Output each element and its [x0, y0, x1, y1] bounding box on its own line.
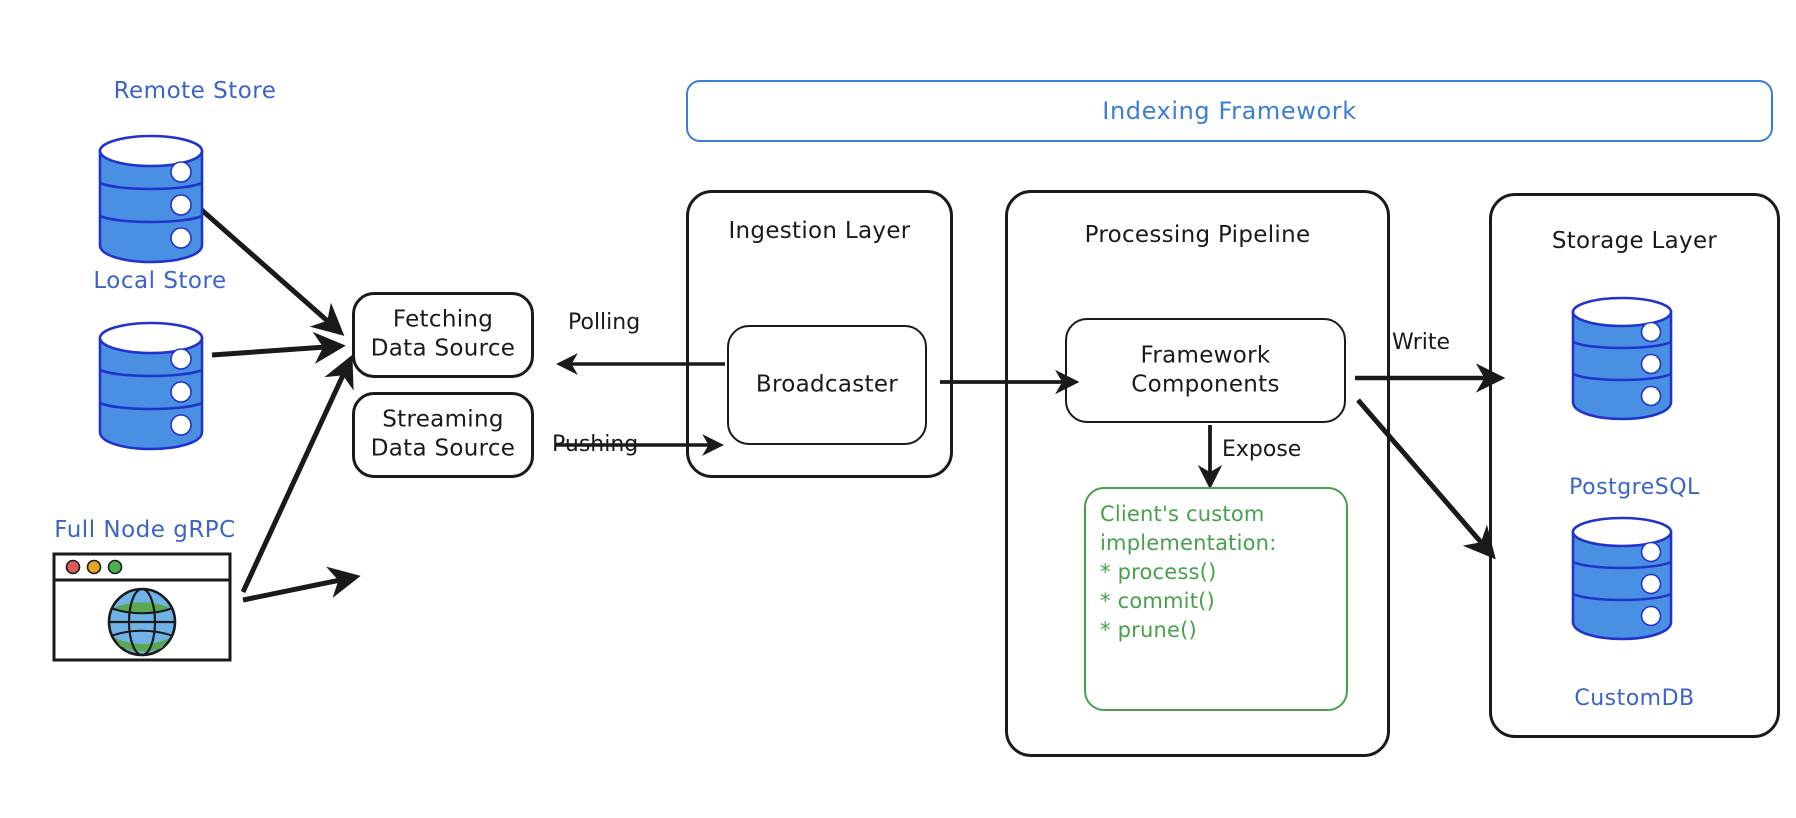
postgresql-label: PostgreSQL — [1489, 475, 1780, 500]
storage-layer-title: Storage Layer — [1489, 228, 1780, 254]
postgresql-database-icon — [1562, 290, 1682, 425]
streaming-line-1: Streaming — [355, 406, 531, 435]
processing-pipeline-title: Processing Pipeline — [1005, 222, 1390, 248]
framework-components-line-2: Components — [1067, 371, 1344, 400]
customdb-database-icon — [1562, 510, 1682, 645]
client-custom-implementation-text: Client's custom implementation: * proces… — [1100, 500, 1350, 645]
indexing-framework-label: Indexing Framework — [686, 80, 1773, 142]
pushing-edge-label: Pushing — [552, 432, 638, 457]
fetching-data-source-text: Fetching Data Source — [355, 306, 531, 365]
custom-impl-method-process: * process() — [1100, 558, 1350, 587]
fetching-data-source-box[interactable]: Fetching Data Source — [352, 292, 534, 378]
storage-layer-group — [1489, 193, 1780, 738]
custom-impl-heading-1: Client's custom — [1100, 500, 1350, 529]
streaming-line-2: Data Source — [355, 435, 531, 464]
framework-components-box[interactable]: Framework Components — [1065, 318, 1346, 423]
custom-impl-method-prune: * prune() — [1100, 616, 1350, 645]
broadcaster-box[interactable]: Broadcaster — [727, 325, 927, 445]
custom-impl-heading-2: implementation: — [1100, 529, 1350, 558]
custom-impl-method-commit: * commit() — [1100, 587, 1350, 616]
fetching-line-2: Data Source — [355, 335, 531, 364]
streaming-data-source-text: Streaming Data Source — [355, 406, 531, 465]
diagram-canvas: Remote Store Local Store — [0, 0, 1796, 818]
remote-store-label: Remote Store — [60, 78, 330, 104]
broadcaster-label: Broadcaster — [729, 370, 925, 399]
arrow-grpc-to-streaming — [243, 577, 355, 600]
write-edge-label: Write — [1392, 330, 1450, 355]
framework-components-line-1: Framework — [1067, 341, 1344, 370]
remote-store-database-icon — [88, 128, 214, 268]
full-node-grpc-browser-globe-icon — [52, 552, 232, 666]
broadcaster-text: Broadcaster — [729, 370, 925, 399]
arrow-local-to-fetching — [212, 346, 340, 355]
polling-edge-label: Polling — [568, 310, 640, 335]
fetching-line-1: Fetching — [355, 306, 531, 335]
local-store-label: Local Store — [40, 268, 280, 294]
ingestion-layer-title: Ingestion Layer — [686, 218, 953, 244]
framework-components-text: Framework Components — [1067, 341, 1344, 400]
local-store-database-icon — [88, 315, 214, 455]
customdb-label: CustomDB — [1489, 686, 1780, 711]
streaming-data-source-box[interactable]: Streaming Data Source — [352, 392, 534, 478]
full-node-grpc-label: Full Node gRPC — [20, 517, 270, 543]
arrow-grpc-to-fetching — [243, 360, 350, 592]
